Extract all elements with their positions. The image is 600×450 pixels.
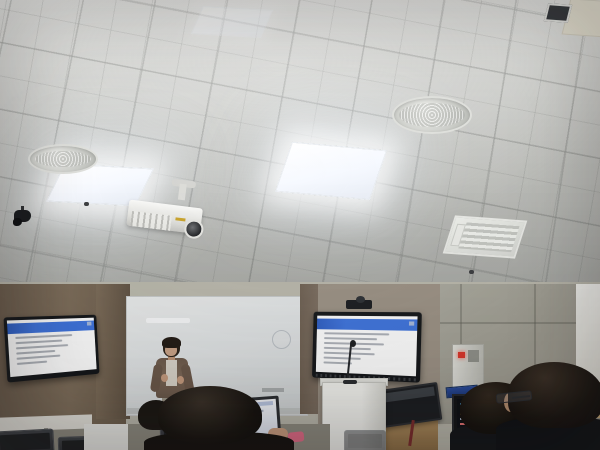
led-panel-light-center-icon: [275, 142, 387, 201]
ceiling-speaker-left-icon: [28, 144, 98, 174]
slide-line: [324, 333, 389, 336]
whiteboard-marker-tray-item: [262, 388, 284, 392]
projector-vent-grille: [130, 211, 172, 231]
wall-column-center: [96, 284, 130, 419]
led-panel-light-far-icon: [191, 6, 274, 38]
water-dispenser-panel[interactable]: [468, 350, 479, 362]
security-camera-icon: [12, 206, 34, 226]
monitor-glare: [382, 387, 435, 403]
water-dispenser-indicator-icon: [458, 352, 465, 358]
presenter-hair: [162, 337, 181, 348]
microphone-head-icon: [350, 340, 356, 347]
wall-display-left[interactable]: [3, 315, 99, 383]
wall-display-right[interactable]: [312, 312, 422, 383]
slide-body-right: [324, 333, 407, 370]
slide-line: [16, 344, 68, 349]
presenter-hand-right: [177, 376, 184, 384]
ceiling-speaker-right-icon: [392, 96, 472, 134]
slide-header-bar: [7, 321, 94, 334]
ceiling-service-hatch: [544, 3, 572, 23]
slide-header-bar: [317, 319, 418, 331]
slide-badge-icon: [409, 321, 414, 325]
laptop-lid-inner: [0, 433, 50, 450]
slide-line: [16, 340, 63, 344]
laptop-lid-inner: [348, 434, 382, 448]
hvac-air-diffuser-icon: [443, 215, 528, 258]
attendee-center-hair: [158, 386, 262, 444]
slide-line: [16, 350, 54, 354]
slide-badge-icon: [87, 322, 92, 326]
attendee-right-2-glasses: [508, 362, 600, 450]
projector-label: [175, 217, 185, 221]
hvac-vanes: [458, 222, 519, 252]
slide-line: [324, 357, 361, 360]
wall-display-right-screen: [316, 316, 418, 377]
wall-display-left-screen: [7, 318, 97, 377]
presenter-shirt: [166, 360, 177, 386]
slide-line: [15, 334, 72, 339]
video-camera-lens-icon: [356, 296, 365, 303]
slide-body-left: [15, 334, 88, 369]
smoke-sensor-left-icon: [84, 202, 89, 206]
presenter-hand-left: [161, 374, 168, 382]
whiteboard-light-reflection: [146, 318, 190, 323]
laptop-lid-right[interactable]: [344, 430, 386, 450]
laptop-lid-left-1[interactable]: [0, 428, 55, 450]
projector-mount-pole: [178, 184, 187, 201]
attendee-center-back-of-head: [158, 386, 262, 450]
camera-lens: [13, 218, 22, 226]
classroom-photo-scene: [0, 0, 600, 450]
slide-line: [324, 347, 371, 350]
attendee-center-shirt: [84, 424, 128, 450]
whiteboard-drawn-circle: [272, 330, 291, 349]
smoke-sensor-right-icon: [469, 270, 474, 274]
slide-line: [17, 361, 47, 365]
microphone-base: [343, 380, 357, 384]
slide-line: [17, 355, 61, 360]
